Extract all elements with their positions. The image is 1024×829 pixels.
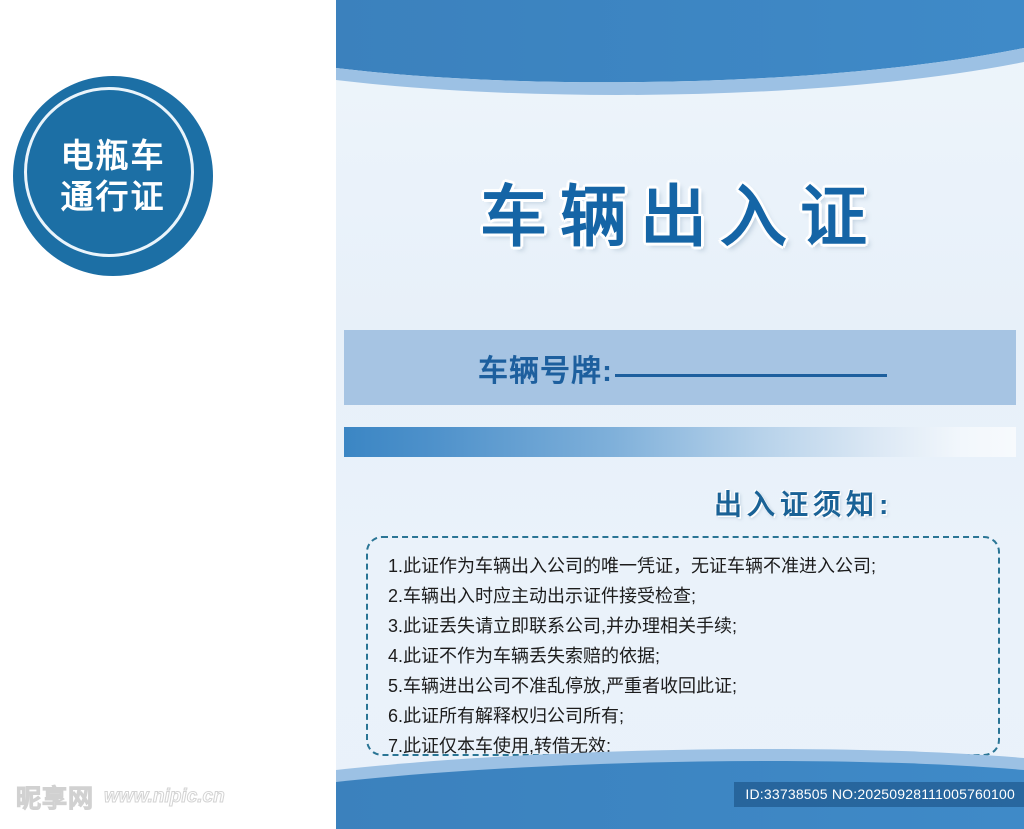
- list-item: 5.车辆进出公司不准乱停放,严重者收回此证;: [388, 671, 988, 701]
- plate-number-input[interactable]: [615, 374, 887, 377]
- badge-line-1: 电瓶车: [61, 135, 166, 176]
- watermark: 昵享网 www.nipic.cn: [16, 779, 225, 815]
- header-curve-decoration: [336, 0, 1024, 115]
- notice-rules-list: 1.此证作为车辆出入公司的唯一凭证，无证车辆不准进入公司; 2.车辆出入时应主动…: [388, 551, 988, 761]
- section-divider: [344, 427, 1016, 457]
- left-pane: 电瓶车 通行证 昵享网 www.nipic.cn: [0, 0, 336, 829]
- list-item: 2.车辆出入时应主动出示证件接受检查;: [388, 581, 988, 611]
- page-title: 车辆出入证: [336, 163, 1024, 260]
- watermark-logo: 昵享网: [16, 779, 94, 815]
- badge-line-2: 通行证: [61, 176, 166, 217]
- list-item: 6.此证所有解释权归公司所有;: [388, 701, 988, 731]
- notice-heading: 出入证须知:: [714, 483, 893, 523]
- pass-badge: 电瓶车 通行证: [13, 76, 213, 276]
- pass-card: 车辆出入证 车辆号牌: 出入证须知: 1.此证作为车辆出入公司的唯一凭证，无证车…: [336, 0, 1024, 829]
- plate-number-band: 车辆号牌:: [344, 330, 1016, 405]
- list-item: 1.此证作为车辆出入公司的唯一凭证，无证车辆不准进入公司;: [388, 551, 988, 581]
- list-item: 3.此证丢失请立即联系公司,并办理相关手续;: [388, 611, 988, 641]
- watermark-url: www.nipic.cn: [104, 786, 225, 808]
- plate-number-label: 车辆号牌:: [478, 346, 613, 390]
- id-stamp: ID:33738505 NO:20250928111005760100: [734, 782, 1024, 807]
- list-item: 4.此证不作为车辆丢失索赔的依据;: [388, 641, 988, 671]
